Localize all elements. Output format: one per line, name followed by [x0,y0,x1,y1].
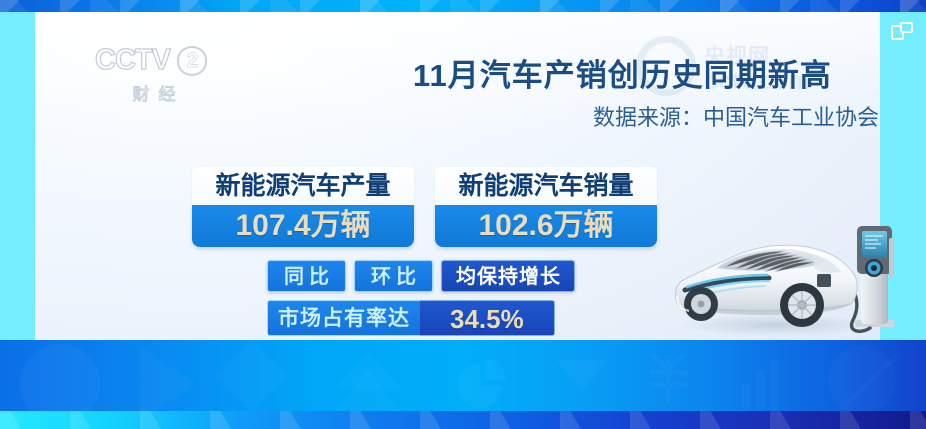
bottom-banner [0,340,926,429]
banner-bottom-strip [0,411,926,429]
charging-station-icon [855,226,895,327]
page-title: 11月汽车产销创历史同期新高 [413,50,883,95]
market-share-label: 市场占有率达 [267,300,420,336]
tag-mom: 环比 [354,260,433,292]
logo-cctv-text: CCTV [95,44,170,77]
front-wheel [780,283,824,327]
market-share-row: 市场占有率达 34.5% [267,300,555,336]
stat-card-sales: 新能源汽车销量 102.6万辆 [435,167,657,247]
tag-yoy: 同比 [267,260,346,292]
content-panel: 央视网 cctv.com CCTV 2 财经 11月汽车产销创历史同期新高 数据… [35,12,880,340]
stat-value: 107.4万辆 [192,205,414,247]
market-share-value: 34.5% [420,300,555,336]
data-source-caption: 数据来源：中国汽车工业协会 [413,100,883,132]
broadcast-graphic: 央视网 cctv.com CCTV 2 财经 11月汽车产销创历史同期新高 数据… [0,0,926,429]
stat-card-production: 新能源汽车产量 107.4万辆 [192,167,414,247]
logo-subtitle: 财经 [95,80,215,105]
electric-car-icon [665,224,915,346]
top-decorative-strip [0,0,926,12]
pip-inner-square [900,22,913,33]
growth-tag-row: 同比 环比 均保持增长 [267,260,575,292]
stat-label: 新能源汽车产量 [192,167,414,205]
stat-label: 新能源汽车销量 [435,167,657,205]
logo-row: CCTV 2 [95,44,215,77]
stat-value: 102.6万辆 [435,205,657,247]
cctv2-logo: CCTV 2 财经 [95,44,215,106]
left-cyan-rail [0,12,35,340]
tag-both-growing: 均保持增长 [441,260,575,292]
picture-in-picture-icon[interactable] [891,22,913,42]
rear-wheel [684,287,718,321]
logo-channel-number: 2 [177,46,207,76]
electric-car-illustration [665,224,915,346]
